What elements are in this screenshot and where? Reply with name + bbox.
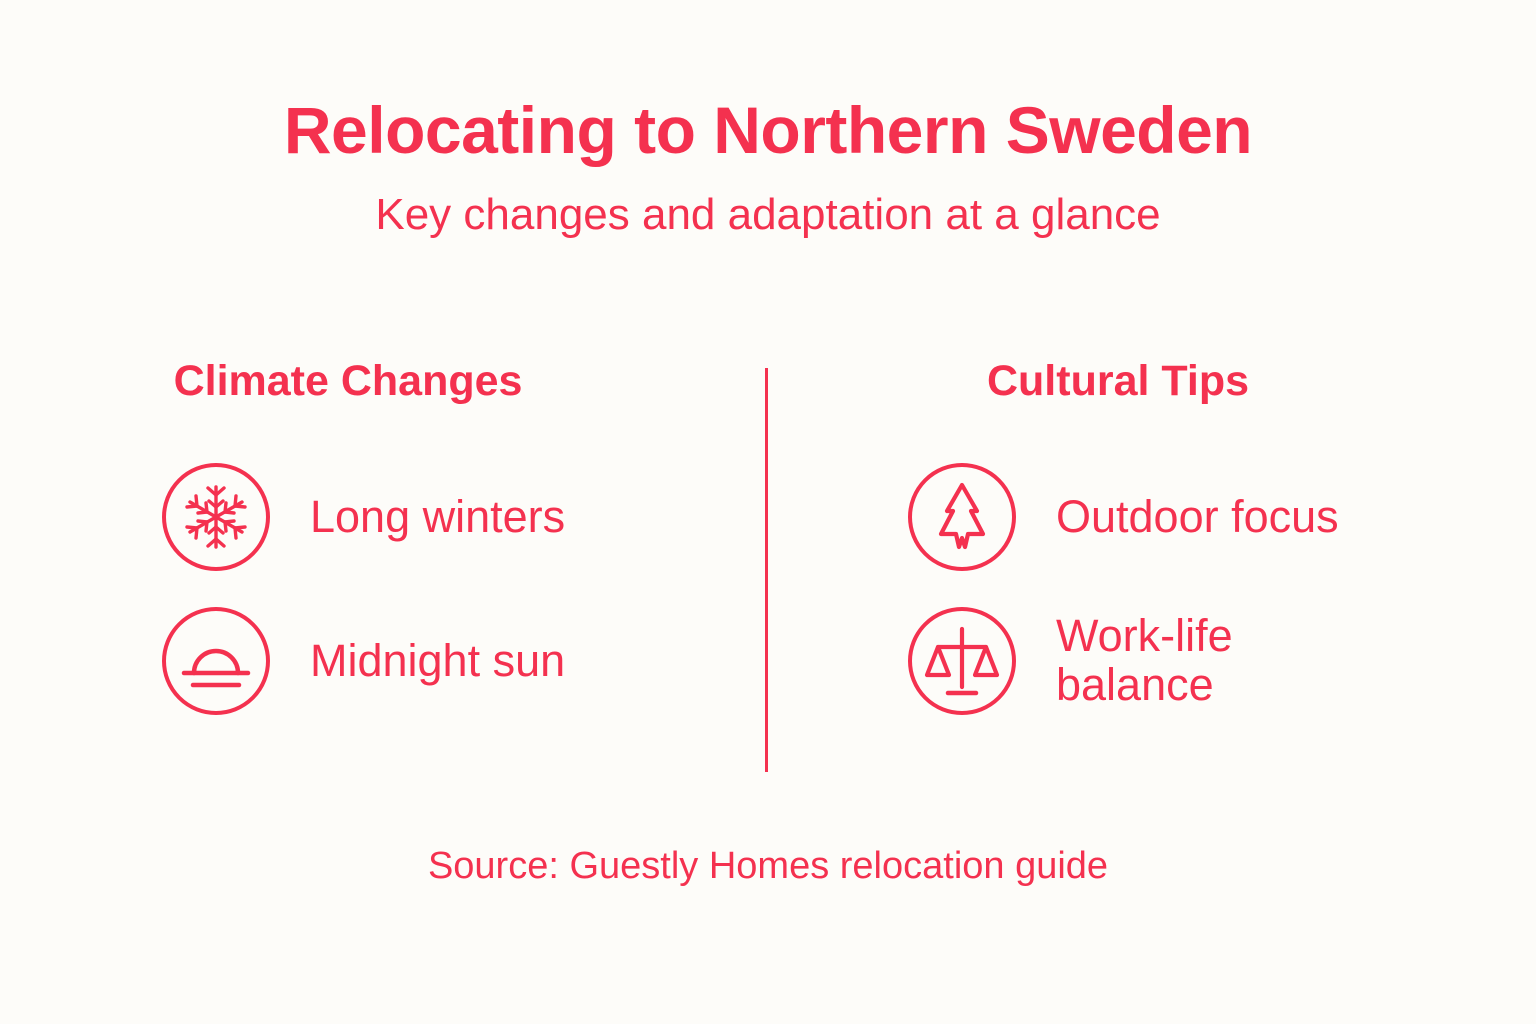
pine-tree-icon — [906, 461, 1018, 573]
list-item-label: Outdoor focus — [1056, 493, 1339, 542]
snowflake-icon — [160, 461, 272, 573]
midnight-sun-icon — [160, 605, 272, 717]
list-item-label: Work-life balance — [1056, 612, 1233, 709]
page-title: Relocating to Northern Sweden — [0, 96, 1536, 165]
column-heading-climate-changes: Climate Changes — [38, 360, 658, 403]
balance-scales-icon — [906, 605, 1018, 717]
header: Relocating to Northern Sweden Key change… — [0, 96, 1536, 240]
column-cultural-tips: Cultural Tips Outdoor focus — [760, 360, 1520, 749]
column-divider — [765, 368, 768, 772]
list-item-label: Long winters — [310, 493, 565, 542]
column-heading-cultural-tips: Cultural Tips — [838, 360, 1398, 403]
list-item: Midnight sun — [38, 605, 760, 717]
page-subtitle: Key changes and adaptation at a glance — [0, 165, 1536, 239]
list-item: Outdoor focus — [838, 461, 1520, 573]
list-item: Long winters — [38, 461, 760, 573]
list-item: Work-life balance — [838, 605, 1520, 717]
infographic-canvas: Relocating to Northern Sweden Key change… — [0, 0, 1536, 1024]
column-climate-changes: Climate Changes — [0, 360, 760, 749]
columns-container: Climate Changes — [0, 360, 1536, 749]
list-item-label: Midnight sun — [310, 637, 565, 686]
source-caption: Source: Guestly Homes relocation guide — [0, 845, 1536, 888]
